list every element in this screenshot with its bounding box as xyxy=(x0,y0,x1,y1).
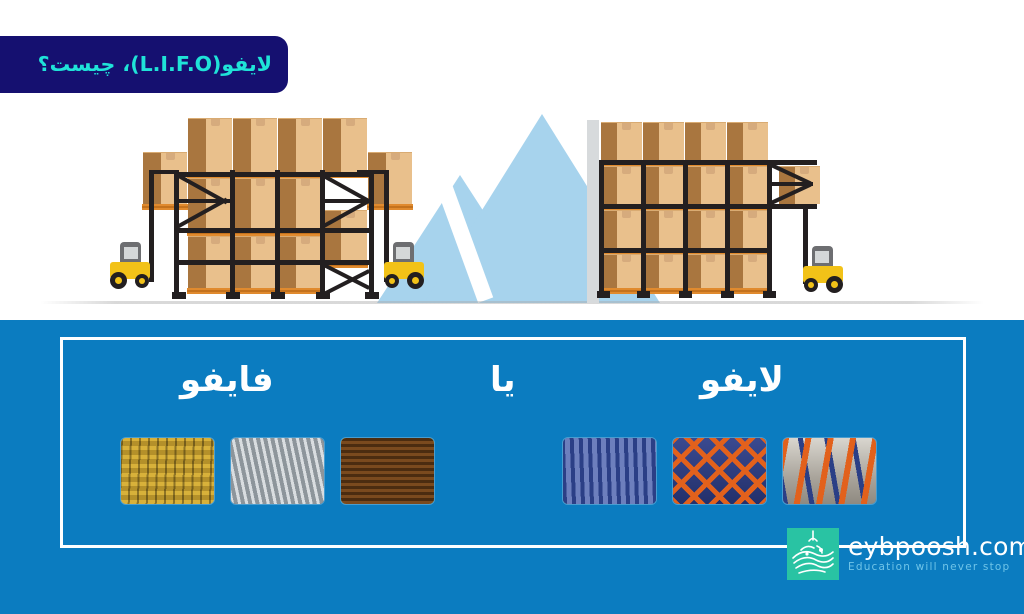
rack-foot xyxy=(763,291,776,298)
rack-diagonal-brace xyxy=(322,199,373,203)
forklift-middle xyxy=(372,170,430,290)
rack-foot xyxy=(597,291,610,298)
pallet-box xyxy=(685,254,726,288)
thumb-image xyxy=(341,438,434,504)
pallet-box xyxy=(233,118,277,172)
forklift-left xyxy=(108,170,166,290)
forklift-wheel-hub xyxy=(831,281,838,288)
rack-beam xyxy=(174,172,374,177)
thumb-image xyxy=(121,438,214,504)
forklift-right xyxy=(790,206,848,298)
pallet-box xyxy=(601,122,642,160)
rack-diagonal-brace xyxy=(769,182,813,186)
rack-upright xyxy=(683,160,688,294)
rack-foot xyxy=(226,292,240,299)
thumb-lifo-orange-beam-rack[interactable] xyxy=(782,437,877,505)
rack-beam xyxy=(769,160,817,165)
pallet-box xyxy=(323,118,367,172)
forklift-window xyxy=(124,247,138,259)
thumb-fifo-yellow-rack-aisle[interactable] xyxy=(120,437,215,505)
pallet-box xyxy=(685,122,726,160)
logo-tagline: Education will never stop xyxy=(848,560,1024,575)
rack-upright xyxy=(767,160,772,294)
rack-beam xyxy=(174,228,374,233)
thumb-lifo-orange-lattice-rack[interactable] xyxy=(672,437,767,505)
rack-upright xyxy=(230,170,235,295)
pallet-box xyxy=(727,254,768,288)
rack-diagonal-brace xyxy=(177,199,232,203)
site-logo[interactable]: eybpoosh.com Education will never stop xyxy=(787,528,1024,580)
thumb-image xyxy=(783,438,876,504)
label-lifo: لایفو xyxy=(700,363,784,397)
rack-upright xyxy=(599,160,604,294)
rack-upright xyxy=(320,170,325,295)
pallet-box xyxy=(727,210,768,248)
forklift-wheel-hub xyxy=(389,278,395,284)
ground-shadow-line xyxy=(40,301,984,304)
forklift-wheel-hub xyxy=(808,282,814,288)
rack-foot xyxy=(271,292,285,299)
thumb-lifo-blue-frame-rack[interactable] xyxy=(562,437,657,505)
pallet-box xyxy=(727,166,768,204)
title-badge: لایفو(L.I.F.O)، چیست؟ xyxy=(0,36,288,93)
rack-foot xyxy=(637,291,650,298)
pallet-box xyxy=(643,254,684,288)
rack-upright xyxy=(275,170,280,295)
pallet-box xyxy=(601,210,642,248)
label-fifo: فایفو xyxy=(180,363,274,397)
pallet-box xyxy=(643,122,684,160)
rack-foot xyxy=(316,292,330,299)
forklift-window xyxy=(396,247,410,259)
pallet-box xyxy=(278,118,322,172)
rack-foot xyxy=(365,292,379,299)
thumb-image xyxy=(563,438,656,504)
pallet-box xyxy=(233,178,277,230)
pallet-box xyxy=(727,122,768,160)
pallet-box xyxy=(278,178,322,230)
illustration-area: لایفو(L.I.F.O)، چیست؟ xyxy=(0,0,1024,320)
rack-upright xyxy=(725,160,730,294)
rack-beam xyxy=(174,260,374,265)
thumb-fifo-conveyor-flow-rack[interactable] xyxy=(230,437,325,505)
forklift-wheel-hub xyxy=(115,277,122,284)
rack-upright xyxy=(174,170,179,295)
pallet-box xyxy=(643,210,684,248)
pallet-box xyxy=(685,166,726,204)
pallet-box xyxy=(188,118,232,172)
eybpoosh-calligraphy-icon xyxy=(787,528,839,580)
logo-text-group: eybpoosh.com Education will never stop xyxy=(848,534,1024,575)
pallet-box xyxy=(685,210,726,248)
forklift-fork xyxy=(778,204,804,208)
forklift-fork xyxy=(357,170,385,174)
forklift-window xyxy=(815,251,829,263)
forklift-wheel-hub xyxy=(139,278,145,284)
pallet-box xyxy=(601,254,642,288)
thumb-image xyxy=(673,438,766,504)
rack-foot xyxy=(172,292,186,299)
label-conjunction: یا xyxy=(490,363,516,397)
pallet-box xyxy=(323,210,367,262)
logo-site-name: eybpoosh.com xyxy=(848,534,1024,560)
thumb-image xyxy=(231,438,324,504)
thumb-fifo-yellow-deck-rack[interactable] xyxy=(340,437,435,505)
slide-canvas: لایفو(L.I.F.O)، چیست؟ فایفو یا لایفو xyxy=(0,0,1024,614)
rack-upright xyxy=(641,160,646,294)
page-title: لایفو(L.I.F.O)، چیست؟ xyxy=(38,54,272,75)
forklift-wheel-hub xyxy=(412,277,419,284)
rack-foot xyxy=(721,291,734,298)
pallet-box xyxy=(601,166,642,204)
pallet-box xyxy=(643,166,684,204)
forklift-fork xyxy=(149,170,177,174)
rack-foot xyxy=(679,291,692,298)
